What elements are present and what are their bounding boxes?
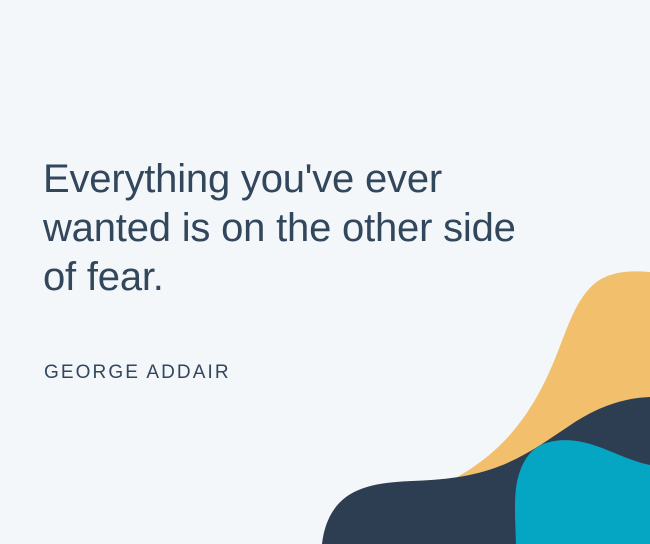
quote-content: Everything you've ever wanted is on the … [0, 0, 650, 544]
quote-card: Everything you've ever wanted is on the … [0, 0, 650, 544]
quote-text: Everything you've ever wanted is on the … [43, 155, 543, 302]
quote-attribution: GEORGE ADDAIR [44, 362, 231, 384]
